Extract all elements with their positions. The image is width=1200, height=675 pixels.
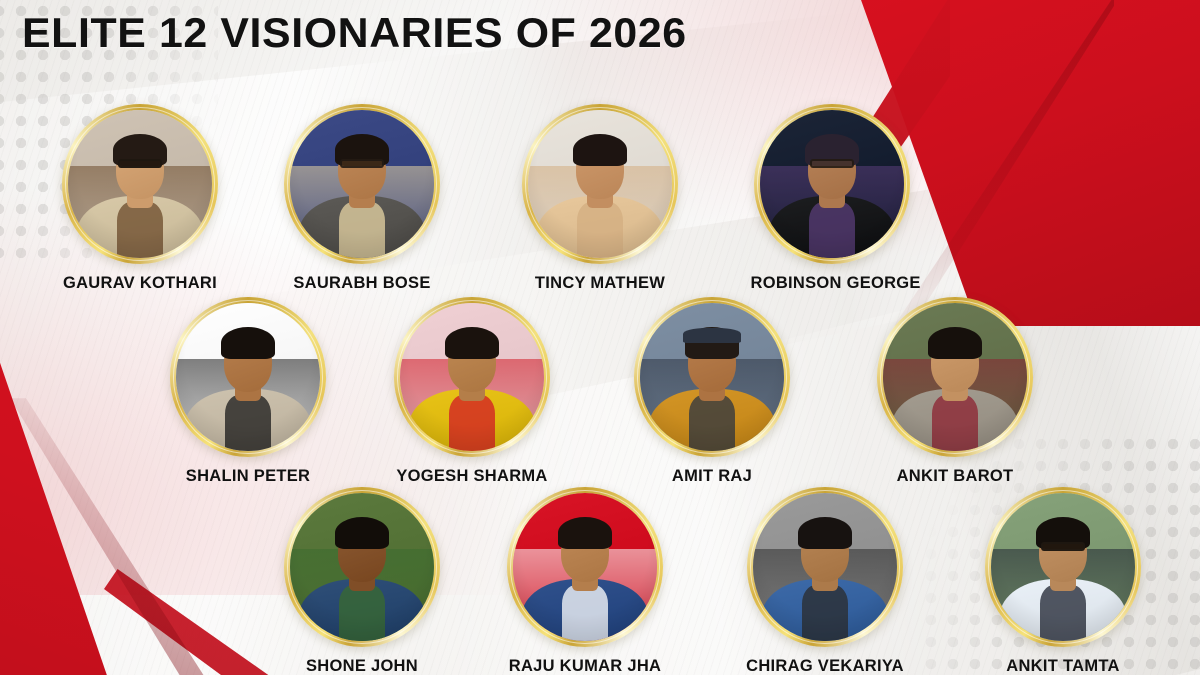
gold-ring-frame: [284, 104, 440, 264]
honouree-grid: GAURAV KOTHARISAURABH BOSETINCY MATHEWRO…: [0, 0, 1200, 675]
honouree-card[interactable]: SAURABH BOSE: [278, 104, 446, 293]
gold-ring-frame: [284, 487, 440, 647]
honouree-card[interactable]: ANKIT BAROT: [871, 297, 1039, 486]
honouree-card[interactable]: SHONE JOHN: [278, 487, 446, 675]
gold-ring-frame: [877, 297, 1033, 457]
gold-ring-frame: [170, 297, 326, 457]
honouree-portrait: [68, 110, 212, 258]
honouree-name: SHONE JOHN: [281, 656, 444, 675]
honouree-portrait: [640, 303, 784, 451]
page-title: ELITE 12 VISIONARIES OF 2026: [22, 12, 687, 54]
title-block: ELITE 12 VISIONARIES OF 2026: [22, 12, 674, 54]
honouree-portrait: [290, 110, 434, 258]
honouree-card[interactable]: GAURAV KOTHARI: [56, 104, 224, 293]
honouree-name: CHIRAG VEKARIYA: [744, 656, 907, 675]
honouree-portrait: [753, 493, 897, 641]
honouree-name: ANKIT BAROT: [874, 466, 1037, 486]
gold-ring-frame: [62, 104, 218, 264]
gold-ring-frame: [634, 297, 790, 457]
honouree-card[interactable]: AMIT RAJ: [628, 297, 796, 486]
gold-ring-frame: [754, 104, 910, 264]
honouree-portrait: [176, 303, 320, 451]
honouree-name: AMIT RAJ: [631, 466, 794, 486]
gold-ring-frame: [394, 297, 550, 457]
honouree-card[interactable]: SHALIN PETER: [164, 297, 332, 486]
honouree-name: GAURAV KOTHARI: [59, 273, 222, 293]
honouree-portrait: [400, 303, 544, 451]
gold-ring-frame: [522, 104, 678, 264]
honouree-card[interactable]: RAJU KUMAR JHA: [501, 487, 669, 675]
honouree-card[interactable]: TINCY MATHEW: [516, 104, 684, 293]
honouree-portrait: [528, 110, 672, 258]
honouree-card[interactable]: YOGESH SHARMA: [388, 297, 556, 486]
honouree-portrait: [991, 493, 1135, 641]
honouree-portrait: [290, 493, 434, 641]
honouree-name: TINCY MATHEW: [519, 273, 682, 293]
honouree-portrait: [760, 110, 904, 258]
poster-canvas: ELITE 12 VISIONARIES OF 2026 GAURAV KOTH…: [0, 0, 1200, 675]
honouree-name: RAJU KUMAR JHA: [504, 656, 667, 675]
honouree-name: ROBINSON GEORGE: [751, 273, 914, 293]
honouree-name: SHALIN PETER: [167, 466, 330, 486]
honouree-portrait: [513, 493, 657, 641]
honouree-name: ANKIT TAMTA: [982, 656, 1145, 675]
gold-ring-frame: [985, 487, 1141, 647]
honouree-portrait: [883, 303, 1027, 451]
gold-ring-frame: [747, 487, 903, 647]
honouree-name: SAURABH BOSE: [281, 273, 444, 293]
gold-ring-frame: [507, 487, 663, 647]
honouree-card[interactable]: ROBINSON GEORGE: [748, 104, 916, 293]
honouree-card[interactable]: CHIRAG VEKARIYA: [741, 487, 909, 675]
honouree-name: YOGESH SHARMA: [391, 466, 554, 486]
honouree-card[interactable]: ANKIT TAMTA: [979, 487, 1147, 675]
